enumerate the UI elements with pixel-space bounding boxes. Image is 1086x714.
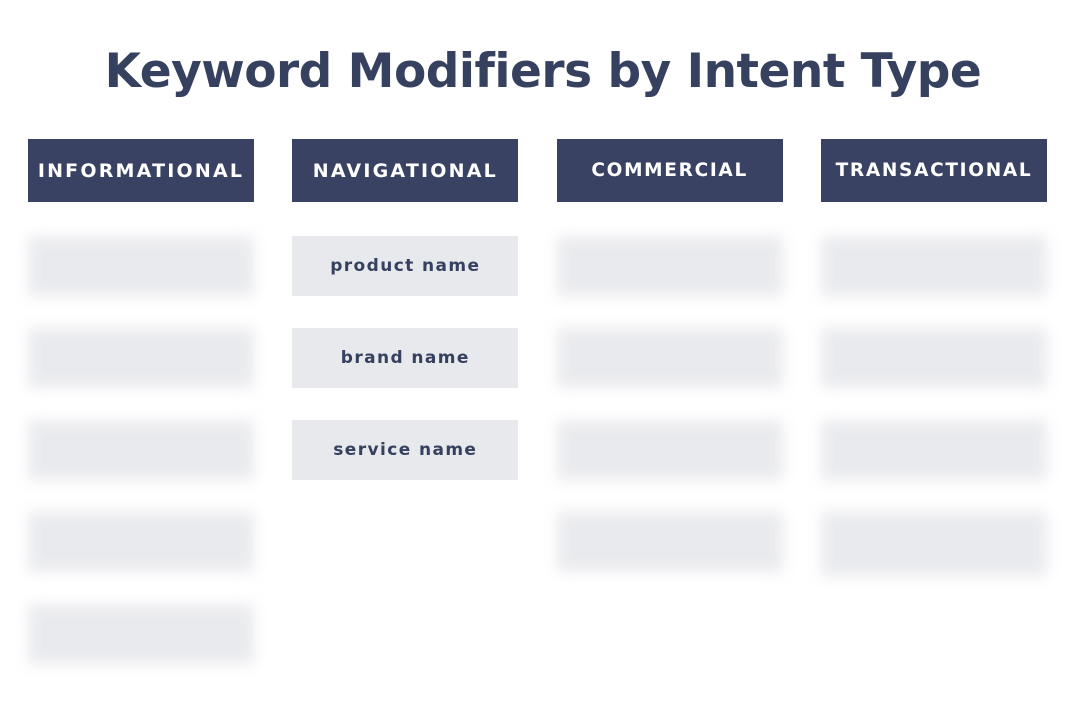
column-header-commercial: COMMERCIAL	[557, 139, 783, 202]
modifier-cell[interactable]	[557, 420, 783, 480]
modifier-cell[interactable]: service name	[292, 420, 518, 480]
cell-list-navigational: product name brand name service name	[292, 202, 518, 480]
column-informational: INFORMATIONAL	[28, 139, 254, 664]
column-header-informational: INFORMATIONAL	[28, 139, 254, 202]
modifier-cell[interactable]	[821, 512, 1047, 576]
modifier-cell[interactable]	[28, 236, 254, 296]
modifier-cell[interactable]	[557, 512, 783, 572]
cell-list-informational	[28, 202, 254, 664]
cell-list-commercial	[557, 202, 783, 572]
modifier-cell[interactable]: brand name	[292, 328, 518, 388]
modifier-cell[interactable]	[557, 328, 783, 388]
modifier-cell[interactable]: product name	[292, 236, 518, 296]
column-commercial: COMMERCIAL	[557, 139, 783, 572]
modifier-cell[interactable]	[821, 236, 1047, 296]
column-header-transactional: TRANSACTIONAL	[821, 139, 1047, 202]
intent-type-columns: INFORMATIONAL NAVIGATIONAL product name …	[28, 139, 1047, 699]
modifier-cell[interactable]	[28, 328, 254, 388]
column-header-navigational: NAVIGATIONAL	[292, 139, 518, 202]
modifier-cell[interactable]	[28, 512, 254, 572]
modifier-cell[interactable]	[28, 604, 254, 664]
column-navigational: NAVIGATIONAL product name brand name ser…	[292, 139, 518, 480]
cell-list-transactional	[821, 202, 1047, 576]
modifier-cell[interactable]	[28, 420, 254, 480]
page-title: Keyword Modifiers by Intent Type	[0, 45, 1086, 99]
modifier-cell[interactable]	[821, 328, 1047, 388]
modifier-cell[interactable]	[557, 236, 783, 296]
modifier-cell[interactable]	[821, 420, 1047, 480]
column-transactional: TRANSACTIONAL	[821, 139, 1047, 576]
